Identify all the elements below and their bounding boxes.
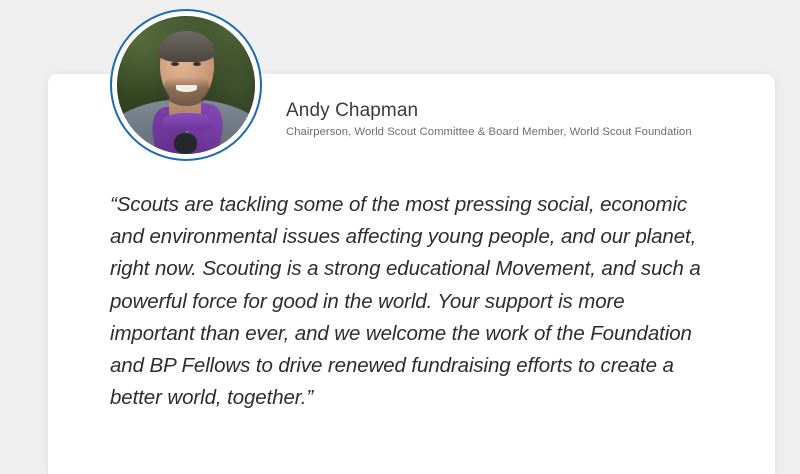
avatar-photo xyxy=(117,16,255,154)
photo-eye-left xyxy=(171,62,179,66)
person-role: Chairperson, World Scout Committee & Boa… xyxy=(286,125,692,140)
testimonial-quote: “Scouts are tackling some of the most pr… xyxy=(110,189,714,414)
person-identity: Andy Chapman Chairperson, World Scout Co… xyxy=(286,99,692,140)
testimonial-screen: Andy Chapman Chairperson, World Scout Co… xyxy=(0,0,800,450)
photo-scarf-knot xyxy=(174,133,197,154)
photo-smile xyxy=(176,85,197,92)
photo-eyebrow-right xyxy=(192,56,203,59)
photo-scarf-band xyxy=(163,113,213,131)
avatar xyxy=(110,9,262,161)
photo-eyebrow-left xyxy=(169,56,180,59)
person-name: Andy Chapman xyxy=(286,99,692,122)
photo-eye-right xyxy=(193,62,201,66)
